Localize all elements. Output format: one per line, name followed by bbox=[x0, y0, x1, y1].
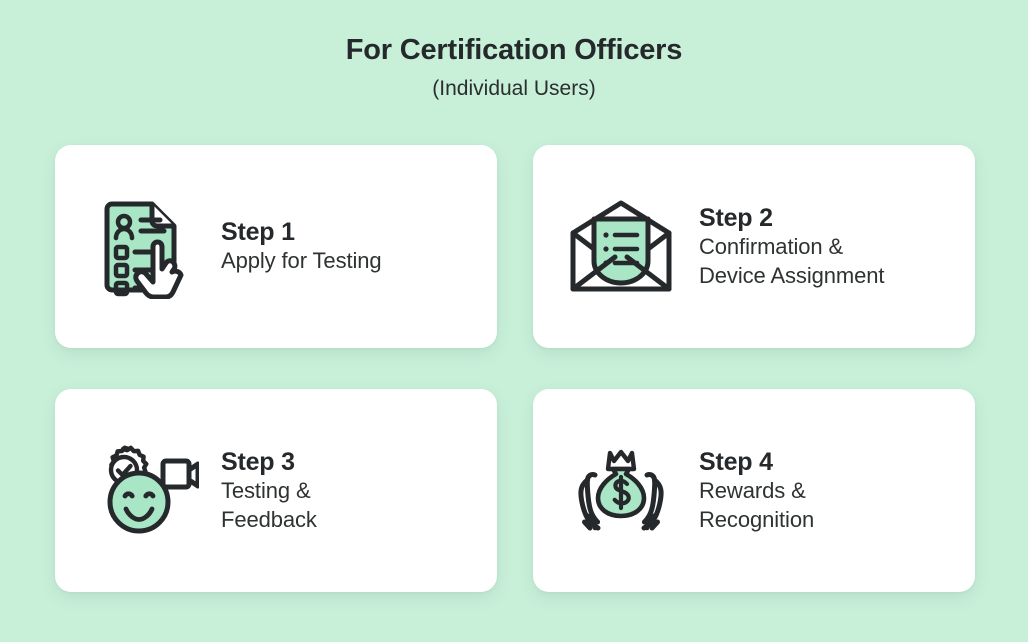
page-header: For Certification Officers (Individual U… bbox=[0, 0, 1028, 101]
step-card-3[interactable]: Step 3 Testing & Feedback bbox=[55, 389, 497, 592]
application-form-hand-icon bbox=[83, 191, 203, 303]
step-card-1[interactable]: Step 1 Apply for Testing bbox=[55, 145, 497, 348]
open-envelope-letter-icon bbox=[561, 191, 681, 303]
step-text-4: Step 4 Rewards & Recognition bbox=[699, 447, 814, 535]
step-text-3: Step 3 Testing & Feedback bbox=[221, 447, 317, 535]
step-text-2: Step 2 Confirmation & Device Assignment bbox=[699, 203, 884, 291]
step-description: Rewards & Recognition bbox=[699, 477, 814, 534]
step-label: Step 4 bbox=[699, 447, 814, 478]
step-description: Testing & Feedback bbox=[221, 477, 317, 534]
step-label: Step 3 bbox=[221, 447, 317, 478]
infographic-page: For Certification Officers (Individual U… bbox=[0, 0, 1028, 642]
step-description: Apply for Testing bbox=[221, 247, 382, 276]
step-card-4[interactable]: Step 4 Rewards & Recognition bbox=[533, 389, 975, 592]
step-card-2[interactable]: Step 2 Confirmation & Device Assignment bbox=[533, 145, 975, 348]
steps-grid: Step 1 Apply for Testing Step 2 bbox=[55, 145, 975, 592]
step-label: Step 1 bbox=[221, 217, 382, 248]
step-label: Step 2 bbox=[699, 203, 884, 234]
page-subtitle: (Individual Users) bbox=[0, 77, 1028, 101]
step-text-1: Step 1 Apply for Testing bbox=[221, 217, 382, 276]
page-title: For Certification Officers bbox=[0, 34, 1028, 67]
step-description: Confirmation & Device Assignment bbox=[699, 233, 884, 290]
gear-check-smiley-camera-icon bbox=[83, 435, 203, 547]
hands-money-bag-icon bbox=[561, 435, 681, 547]
